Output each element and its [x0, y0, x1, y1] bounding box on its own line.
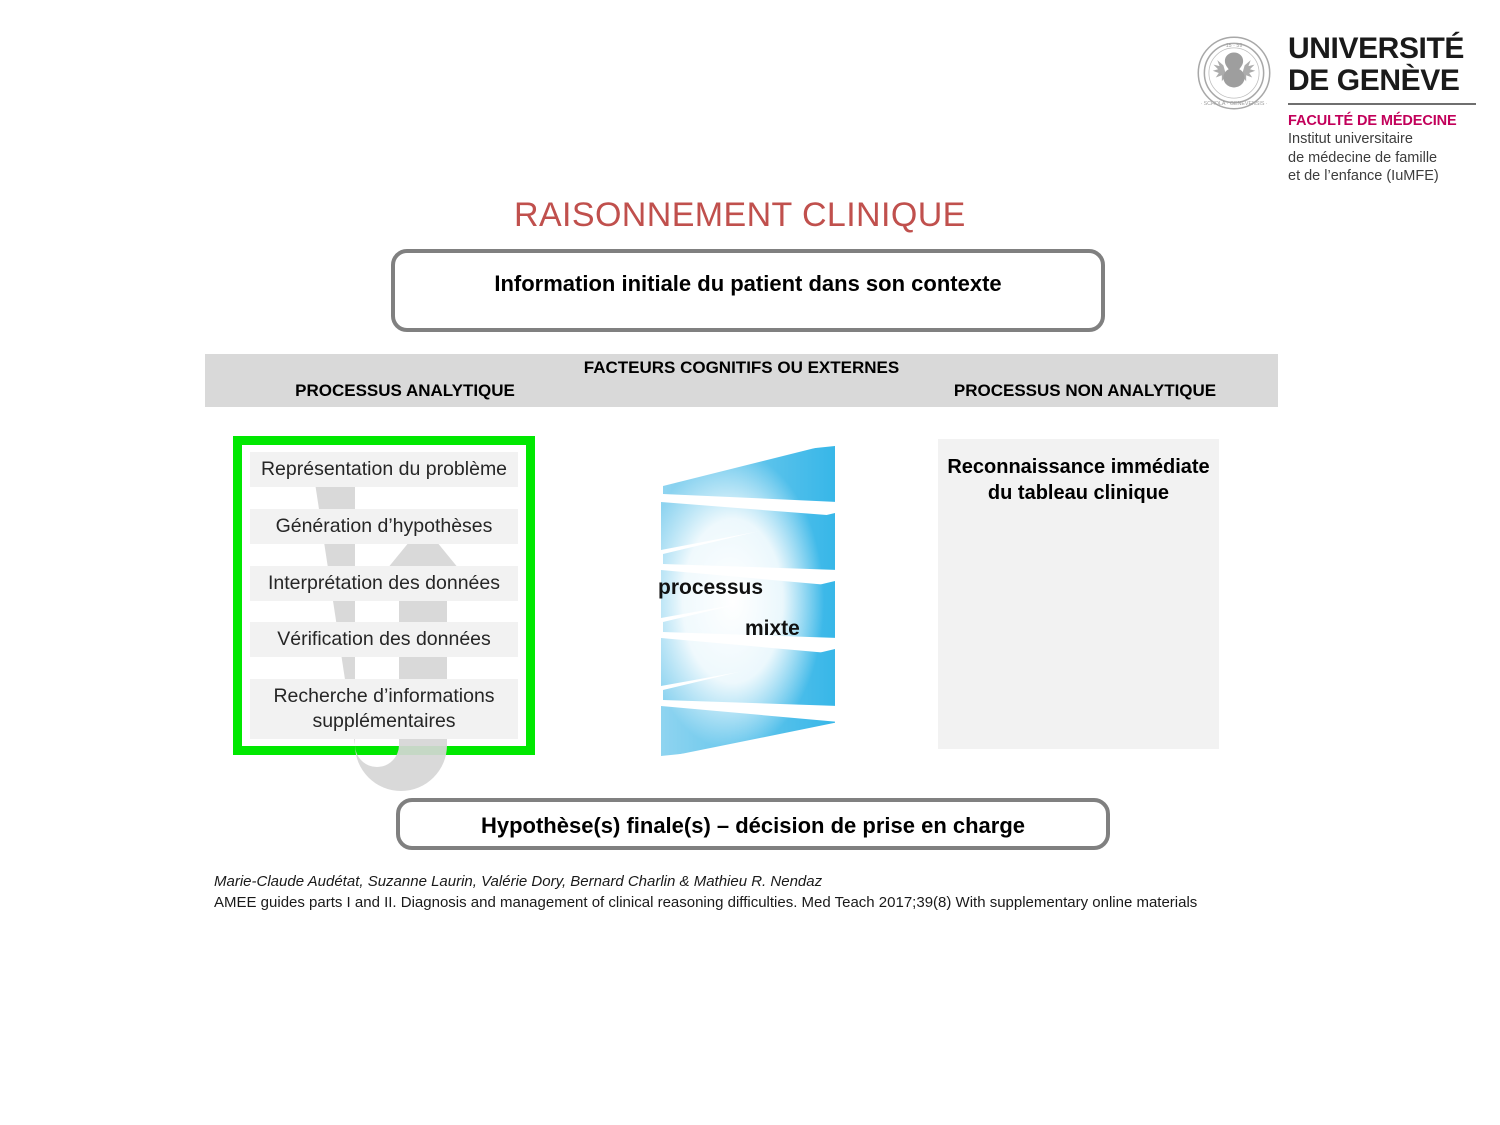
- analytic-step: Génération d’hypothèses: [250, 509, 518, 544]
- zigzag-triangles-icon: [653, 446, 843, 756]
- non-analytic-label: Reconnaissance immédiate du tableau clin…: [938, 454, 1219, 506]
- logo-institute-line-3: et de l’enfance (IuMFE): [1288, 167, 1476, 186]
- analytic-step: Interprétation des données: [250, 566, 518, 601]
- non-analytic-process-label: PROCESSUS NON ANALYTIQUE: [920, 381, 1250, 401]
- logo-institute-line-2: de médecine de famille: [1288, 149, 1476, 168]
- logo-divider: [1288, 103, 1476, 105]
- logo-wordmark: UNIVERSITÉ DE GENÈVE FACULTÉ DE MÉDECINE…: [1288, 33, 1476, 186]
- final-hypothesis-box: Hypothèse(s) finale(s) – décision de pri…: [396, 798, 1110, 850]
- initial-information-box: Information initiale du patient dans son…: [391, 249, 1105, 332]
- analytic-process-label: PROCESSUS ANALYTIQUE: [260, 381, 550, 401]
- analytic-step: Vérification des données: [250, 622, 518, 657]
- citation-reference: AMEE guides parts I and II. Diagnosis an…: [214, 892, 1314, 913]
- factors-banner-title: FACTEURS COGNITIFS OU EXTERNES: [205, 358, 1278, 378]
- page-title: RAISONNEMENT CLINIQUE: [0, 196, 1500, 235]
- analytic-step: Représentation du problème: [250, 452, 518, 487]
- mixed-process-graphic: processus mixte: [653, 446, 843, 756]
- final-hypothesis-label: Hypothèse(s) finale(s) – décision de pri…: [400, 813, 1106, 839]
- analytic-step: Recherche d’informations supplémentaires: [250, 679, 518, 739]
- cognitive-factors-banner: FACTEURS COGNITIFS OU EXTERNES PROCESSUS…: [205, 354, 1278, 407]
- analytic-process-panel: Représentation du problème Génération d’…: [233, 436, 535, 755]
- logo-university-line2: DE GENÈVE: [1288, 65, 1476, 97]
- logo-university-line1: UNIVERSITÉ: [1288, 33, 1476, 65]
- mixed-process-label-line2: mixte: [745, 617, 800, 641]
- initial-information-label: Information initiale du patient dans son…: [395, 271, 1101, 297]
- svg-text:· 15 · 59 ·: · 15 · 59 ·: [1222, 43, 1245, 49]
- citation-authors: Marie-Claude Audétat, Suzanne Laurin, Va…: [214, 871, 1314, 892]
- geneva-university-seal-icon: · 15 · 59 · · SCHOLA · GENEVENSIS ·: [1196, 35, 1272, 111]
- analytic-steps-list: Représentation du problème Génération d’…: [242, 445, 526, 746]
- logo-faculty-label: FACULTÉ DE MÉDECINE: [1288, 112, 1476, 130]
- svg-text:· SCHOLA · GENEVENSIS ·: · SCHOLA · GENEVENSIS ·: [1200, 101, 1268, 107]
- mixed-process-label-line1: processus: [658, 576, 763, 600]
- citation: Marie-Claude Audétat, Suzanne Laurin, Va…: [214, 871, 1314, 913]
- university-logo: · 15 · 59 · · SCHOLA · GENEVENSIS · UNIV…: [1196, 33, 1476, 198]
- logo-institute-line-1: Institut universitaire: [1288, 130, 1476, 149]
- non-analytic-process-panel: Reconnaissance immédiate du tableau clin…: [938, 439, 1219, 749]
